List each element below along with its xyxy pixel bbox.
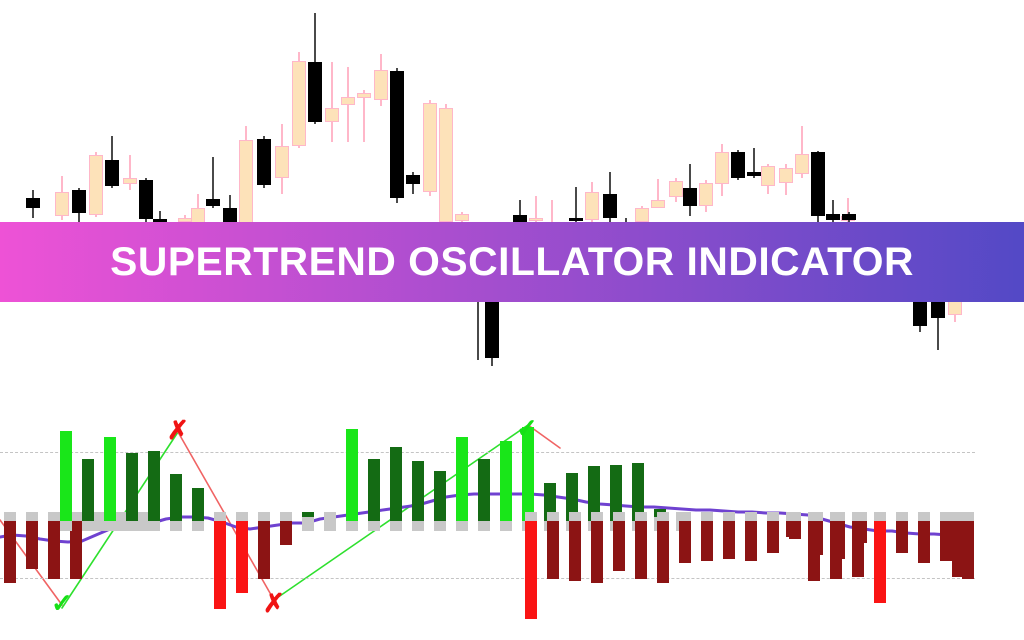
candle-body — [223, 208, 237, 222]
oscillator-bar — [126, 415, 138, 640]
oscillator-bar-neutral-stub — [324, 512, 336, 531]
candlestick — [439, 104, 453, 230]
candlestick — [26, 190, 40, 218]
oscillator-bar-value — [786, 521, 798, 537]
candlestick — [761, 164, 775, 194]
oscillator-bar — [525, 415, 537, 640]
candle-body — [439, 108, 453, 222]
oscillator-bar-value — [918, 521, 930, 563]
oscillator-bar — [478, 415, 490, 640]
candle-body — [913, 300, 927, 326]
candle-body — [239, 140, 253, 224]
oscillator-bar — [896, 415, 908, 640]
candle-body — [669, 181, 683, 197]
candlestick — [374, 54, 388, 106]
candle-body — [390, 71, 404, 198]
candlestick — [357, 90, 371, 142]
oscillator-bar — [852, 415, 864, 640]
candlestick — [292, 52, 306, 148]
candle-body — [585, 192, 599, 220]
oscillator-bar — [192, 415, 204, 640]
oscillator-bar — [940, 415, 952, 640]
price-candlestick-chart — [0, 0, 1024, 420]
oscillator-bar-value — [4, 521, 16, 583]
oscillator-bar-value — [767, 521, 779, 553]
candle-body — [731, 152, 745, 178]
candle-body — [292, 61, 306, 146]
oscillator-bar-value — [701, 521, 713, 561]
oscillator-bar — [569, 415, 581, 640]
oscillator-bar-value — [591, 521, 603, 583]
oscillator-bar-value — [82, 459, 94, 521]
candle-body — [948, 300, 962, 315]
candlestick — [406, 172, 420, 194]
candle-body — [89, 155, 103, 215]
oscillator-bar — [26, 415, 38, 640]
candle-body — [485, 300, 499, 358]
candle-wick — [331, 62, 333, 142]
screenshot-root: SUPERTREND OSCILLATOR INDICATOR ✓✗✗✓ — [0, 0, 1024, 640]
candle-body — [747, 172, 761, 176]
oscillator-bar — [4, 415, 16, 640]
candlestick — [779, 164, 793, 195]
candlestick — [513, 200, 527, 224]
oscillator-bar-value — [60, 431, 72, 521]
candle-body — [406, 175, 420, 184]
candle-body — [455, 214, 469, 221]
candle-body — [325, 108, 339, 122]
oscillator-bar — [500, 415, 512, 640]
candlestick — [423, 100, 437, 196]
candlestick — [275, 124, 289, 194]
oscillator-bar-value — [456, 437, 468, 521]
oscillator-bar-value — [635, 521, 647, 579]
candlestick — [585, 182, 599, 222]
buy-marker-1: ✓ — [51, 590, 73, 616]
candlestick — [390, 68, 404, 203]
candle-body — [842, 214, 856, 220]
candle-body — [569, 218, 583, 221]
oscillator-bar-value — [940, 521, 952, 561]
oscillator-bar — [613, 415, 625, 640]
candlestick — [913, 298, 927, 332]
oscillator-bar — [786, 415, 798, 640]
oscillator-bar-value — [896, 521, 908, 553]
candlestick — [308, 13, 322, 124]
candlestick — [669, 178, 683, 202]
candle-body — [529, 218, 543, 221]
candlestick — [341, 67, 355, 142]
candlestick — [55, 176, 69, 220]
oscillator-bar — [635, 415, 647, 640]
candle-body — [308, 62, 322, 122]
candlestick — [931, 295, 945, 350]
candlestick — [529, 196, 543, 224]
oscillator-bar — [962, 415, 974, 640]
candle-body — [139, 180, 153, 219]
candle-body — [779, 168, 793, 183]
candle-body — [26, 198, 40, 208]
oscillator-bar-value — [679, 521, 691, 563]
oscillator-bar-value — [368, 459, 380, 521]
oscillator-bar-value — [214, 521, 226, 609]
oscillator-bar-value — [192, 488, 204, 521]
oscillator-bar-value — [525, 521, 537, 619]
oscillator-bar — [701, 415, 713, 640]
candlestick — [747, 148, 761, 178]
oscillator-bar — [236, 415, 248, 640]
candlestick — [206, 157, 220, 208]
candle-body — [105, 160, 119, 186]
oscillator-bar-value — [346, 429, 358, 521]
oscillator-bar-value — [547, 521, 559, 579]
oscillator-bar — [547, 415, 559, 640]
oscillator-bar-value — [170, 474, 182, 521]
oscillator-bar — [657, 415, 669, 640]
oscillator-bar-value — [808, 521, 820, 581]
candlestick — [603, 172, 617, 224]
oscillator-bar — [302, 415, 314, 640]
candle-wick — [129, 155, 131, 190]
oscillator-bar — [591, 415, 603, 640]
oscillator-bar-value — [745, 521, 757, 561]
oscillator-bar-value — [236, 521, 248, 593]
oscillator-bar — [148, 415, 160, 640]
candle-body — [257, 139, 271, 185]
candlestick — [569, 187, 583, 224]
oscillator-bar — [324, 415, 336, 640]
oscillator-bar — [368, 415, 380, 640]
oscillator-bar-value — [390, 447, 402, 521]
candle-body — [341, 97, 355, 105]
oscillator-bar — [170, 415, 182, 640]
candle-body — [123, 178, 137, 184]
candle-wick — [832, 200, 834, 224]
oscillator-bar — [679, 415, 691, 640]
candle-body — [699, 183, 713, 206]
oscillator-bar-value — [148, 451, 160, 521]
candle-body — [651, 200, 665, 208]
candle-body — [357, 93, 371, 98]
candlestick — [651, 179, 665, 204]
candle-body — [811, 152, 825, 216]
oscillator-bar-value — [830, 521, 842, 579]
oscillator-bar — [767, 415, 779, 640]
oscillator-bar-value — [104, 437, 116, 521]
oscillator-bar — [808, 415, 820, 640]
oscillator-bar-value — [874, 521, 886, 603]
candle-body — [795, 154, 809, 174]
candle-body — [206, 199, 220, 206]
oscillator-bar-value — [26, 521, 38, 569]
oscillator-bar-value — [434, 471, 446, 521]
oscillator-bar — [456, 415, 468, 640]
candle-body — [275, 146, 289, 178]
candlestick — [795, 126, 809, 178]
oscillator-bar — [346, 415, 358, 640]
candle-body — [374, 70, 388, 100]
candle-body — [683, 188, 697, 206]
buy-marker-2: ✗ — [263, 590, 285, 616]
candle-body — [423, 103, 437, 192]
candle-body — [826, 214, 840, 220]
oscillator-bar-value — [569, 521, 581, 581]
candlestick — [811, 151, 825, 222]
candlestick — [239, 126, 253, 226]
oscillator-bar-value — [657, 521, 669, 583]
oscillator-bar — [723, 415, 735, 640]
oscillator-bar — [434, 415, 446, 640]
oscillator-bar-value — [723, 521, 735, 559]
oscillator-bar — [412, 415, 424, 640]
candle-body — [603, 194, 617, 218]
oscillator-bar — [390, 415, 402, 640]
oscillator-bar-value — [302, 512, 314, 517]
oscillator-bar-value — [852, 521, 864, 577]
candlestick — [485, 298, 499, 366]
oscillator-bar-value — [478, 459, 490, 521]
sell-marker-1: ✗ — [167, 417, 189, 443]
candle-body — [635, 208, 649, 222]
oscillator-bar-value — [258, 521, 270, 579]
candlestick — [89, 152, 103, 217]
candle-body — [55, 192, 69, 216]
oscillator-bar — [874, 415, 886, 640]
candlestick — [325, 62, 339, 142]
oscillator-bar-value — [962, 521, 974, 579]
oscillator-bar-value — [280, 521, 292, 545]
oscillator-bar-value — [126, 453, 138, 521]
candle-body — [761, 166, 775, 186]
candlestick — [699, 180, 713, 212]
sell-marker-2: ✓ — [516, 415, 538, 441]
candlestick — [715, 144, 729, 196]
candlestick — [123, 155, 137, 190]
page-title: SUPERTREND OSCILLATOR INDICATOR — [110, 242, 914, 282]
title-banner: SUPERTREND OSCILLATOR INDICATOR — [0, 222, 1024, 302]
oscillator-bar — [745, 415, 757, 640]
candlestick — [105, 136, 119, 188]
candlestick — [683, 164, 697, 216]
oscillator-bar — [918, 415, 930, 640]
oscillator-bar — [82, 415, 94, 640]
candlestick — [72, 188, 86, 222]
oscillator-bar — [214, 415, 226, 640]
oscillator-bar — [830, 415, 842, 640]
candlestick — [139, 178, 153, 224]
oscillator-bar — [104, 415, 116, 640]
candle-body — [72, 190, 86, 213]
candlestick — [257, 136, 271, 188]
supertrend-oscillator-chart: ✓✗✗✓ — [0, 415, 1024, 640]
candlestick — [826, 200, 840, 224]
candle-body — [715, 152, 729, 184]
oscillator-bar-value — [412, 461, 424, 521]
oscillator-bar-value — [48, 521, 60, 579]
oscillator-bar-value — [613, 521, 625, 571]
candlestick — [731, 150, 745, 180]
oscillator-bar-value — [500, 441, 512, 521]
